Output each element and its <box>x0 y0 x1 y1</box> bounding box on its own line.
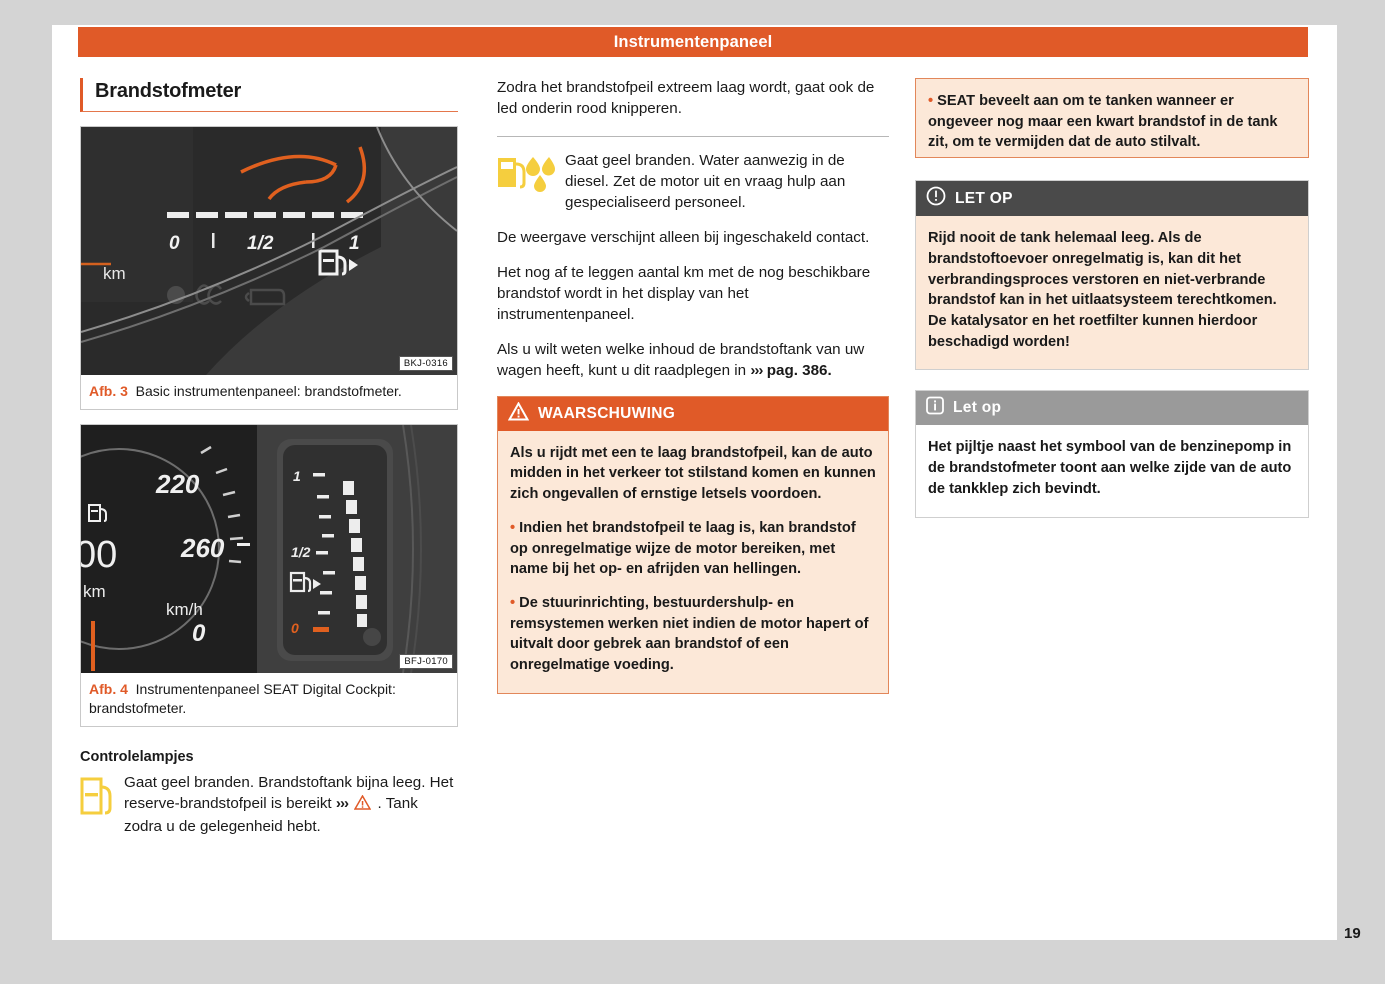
figure-3: 0 1/2 1 <box>80 126 458 410</box>
figure-4-caption: Afb. 4 Instrumentenpaneel SEAT Digital C… <box>81 673 457 726</box>
svg-text:1: 1 <box>349 233 360 254</box>
warning-paragraph: Als u rijdt met een te laag brandstofpei… <box>510 443 876 505</box>
svg-text:km: km <box>83 582 106 601</box>
left-column: Brandstofmeter <box>80 78 458 852</box>
figure-3-caption-label: Afb. 3 <box>89 383 128 399</box>
digital-cockpit-illustration: 220 260 00 km km/h 0 <box>81 425 457 673</box>
cross-reference-chevrons: ››› <box>750 362 762 379</box>
notice-callout-box: LET OP Rijd nooit de tank helemaal leeg.… <box>915 180 1309 370</box>
warning-bullet-item: • SEAT beveelt aan om te tanken wanneer … <box>928 91 1296 153</box>
figure-4-caption-text: Instrumentenpaneel SEAT Digital Cockpit:… <box>89 681 396 715</box>
warning-continuation-box: • SEAT beveelt aan om te tanken wanneer … <box>915 78 1309 158</box>
page-number: 19 <box>1344 925 1361 942</box>
diesel-water-item: Gaat geel branden. Water aanwezig in de … <box>497 151 889 214</box>
warning-bullet-item: • De stuurinrichting, bestuurdershulp- e… <box>510 593 876 676</box>
figure-3-code: BKJ-0316 <box>399 356 453 371</box>
figure-3-caption-text: Basic instrumentenpaneel: brandstofmeter… <box>136 383 402 399</box>
fuel-pump-outline-icon <box>80 773 114 838</box>
paragraph-tank-reference: Als u wilt weten welke inhoud de brandst… <box>497 340 889 382</box>
notice-text: Rijd nooit de tank helemaal leeg. Als de… <box>928 228 1296 352</box>
warning-bullet-text: De stuurinrichting, bestuurdershulp- en … <box>510 595 868 673</box>
page-header-bar: Instrumentenpaneel <box>78 27 1308 57</box>
basic-cluster-illustration: 0 1/2 1 <box>81 127 457 375</box>
warning-triangle-inline-icon <box>354 795 371 817</box>
figure-4: 220 260 00 km km/h 0 <box>80 424 458 727</box>
svg-text:km: km <box>103 264 126 283</box>
bullet-marker: • <box>510 520 515 536</box>
svg-text:1/2: 1/2 <box>291 544 311 560</box>
control-lamp-item: Gaat geel branden. Brandstoftank bijna l… <box>80 773 458 838</box>
notice-callout-header: LET OP <box>916 181 1308 216</box>
divider <box>497 136 889 137</box>
paragraph-range: Het nog af te leggen aantal km met de no… <box>497 263 889 326</box>
info-callout-body: Het pijltje naast het symbool van de ben… <box>916 425 1308 516</box>
figure-3-image: 0 1/2 1 <box>81 127 457 375</box>
svg-text:1/2: 1/2 <box>247 233 274 254</box>
paragraph-contact: De weergave verschijnt alleen bij ingesc… <box>497 228 889 249</box>
svg-text:0: 0 <box>192 620 206 647</box>
intro-paragraph: Zodra het brandstofpeil extreem laag wor… <box>497 78 889 120</box>
page-title: Brandstofmeter <box>80 78 458 112</box>
cross-reference-chevrons: ››› <box>336 795 348 812</box>
diesel-water-text: Gaat geel branden. Water aanwezig in de … <box>565 151 889 214</box>
warning-triangle-icon <box>508 402 529 426</box>
page-header-title: Instrumentenpaneel <box>614 33 773 52</box>
svg-text:0: 0 <box>169 233 180 254</box>
warning-callout-header: WAARSCHUWING <box>498 397 888 431</box>
svg-text:220: 220 <box>155 469 200 499</box>
svg-text:260: 260 <box>180 533 225 563</box>
fuel-pump-water-drops-icon <box>497 151 555 214</box>
subsection-title: Controlelampjes <box>80 749 458 765</box>
notice-callout-body: Rijd nooit de tank helemaal leeg. Als de… <box>916 216 1308 369</box>
exclamation-circle-icon <box>926 186 946 211</box>
middle-column: Zodra het brandstofpeil extreem laag wor… <box>497 78 889 714</box>
figure-4-image: 220 260 00 km km/h 0 <box>81 425 457 673</box>
info-callout-box: Let op Het pijltje naast het symbool van… <box>915 390 1309 517</box>
notice-callout-title: LET OP <box>955 190 1013 208</box>
bullet-marker: • <box>510 595 515 611</box>
figure-4-code: BFJ-0170 <box>399 654 453 669</box>
cross-reference-target: pag. 386. <box>763 362 832 379</box>
figure-3-caption: Afb. 3 Basic instrumentenpaneel: brandst… <box>81 375 457 409</box>
warning-callout-title: WAARSCHUWING <box>538 405 675 423</box>
control-lamp-text: Gaat geel branden. Brandstoftank bijna l… <box>124 773 458 838</box>
warning-callout-body: Als u rijdt met een te laag brandstofpei… <box>498 431 888 693</box>
bullet-marker: • <box>928 93 933 109</box>
warning-bullet-text: Indien het brandstofpeil te laag is, kan… <box>510 520 856 577</box>
right-column: • SEAT beveelt aan om te tanken wanneer … <box>915 78 1309 538</box>
info-text: Het pijltje naast het symbool van de ben… <box>928 437 1296 499</box>
figure-4-caption-label: Afb. 4 <box>89 681 128 697</box>
warning-bullet-text: SEAT beveelt aan om te tanken wanneer er… <box>928 93 1278 150</box>
svg-text:km/h: km/h <box>166 600 203 619</box>
info-callout-title: Let op <box>953 399 1001 417</box>
svg-text:1: 1 <box>293 468 301 484</box>
info-callout-header: Let op <box>916 391 1308 425</box>
info-icon <box>926 396 944 420</box>
svg-text:00: 00 <box>81 534 117 576</box>
svg-text:0: 0 <box>291 620 299 636</box>
warning-bullet-item: • Indien het brandstofpeil te laag is, k… <box>510 518 876 580</box>
warning-callout-box: WAARSCHUWING Als u rijdt met een te laag… <box>497 396 889 694</box>
